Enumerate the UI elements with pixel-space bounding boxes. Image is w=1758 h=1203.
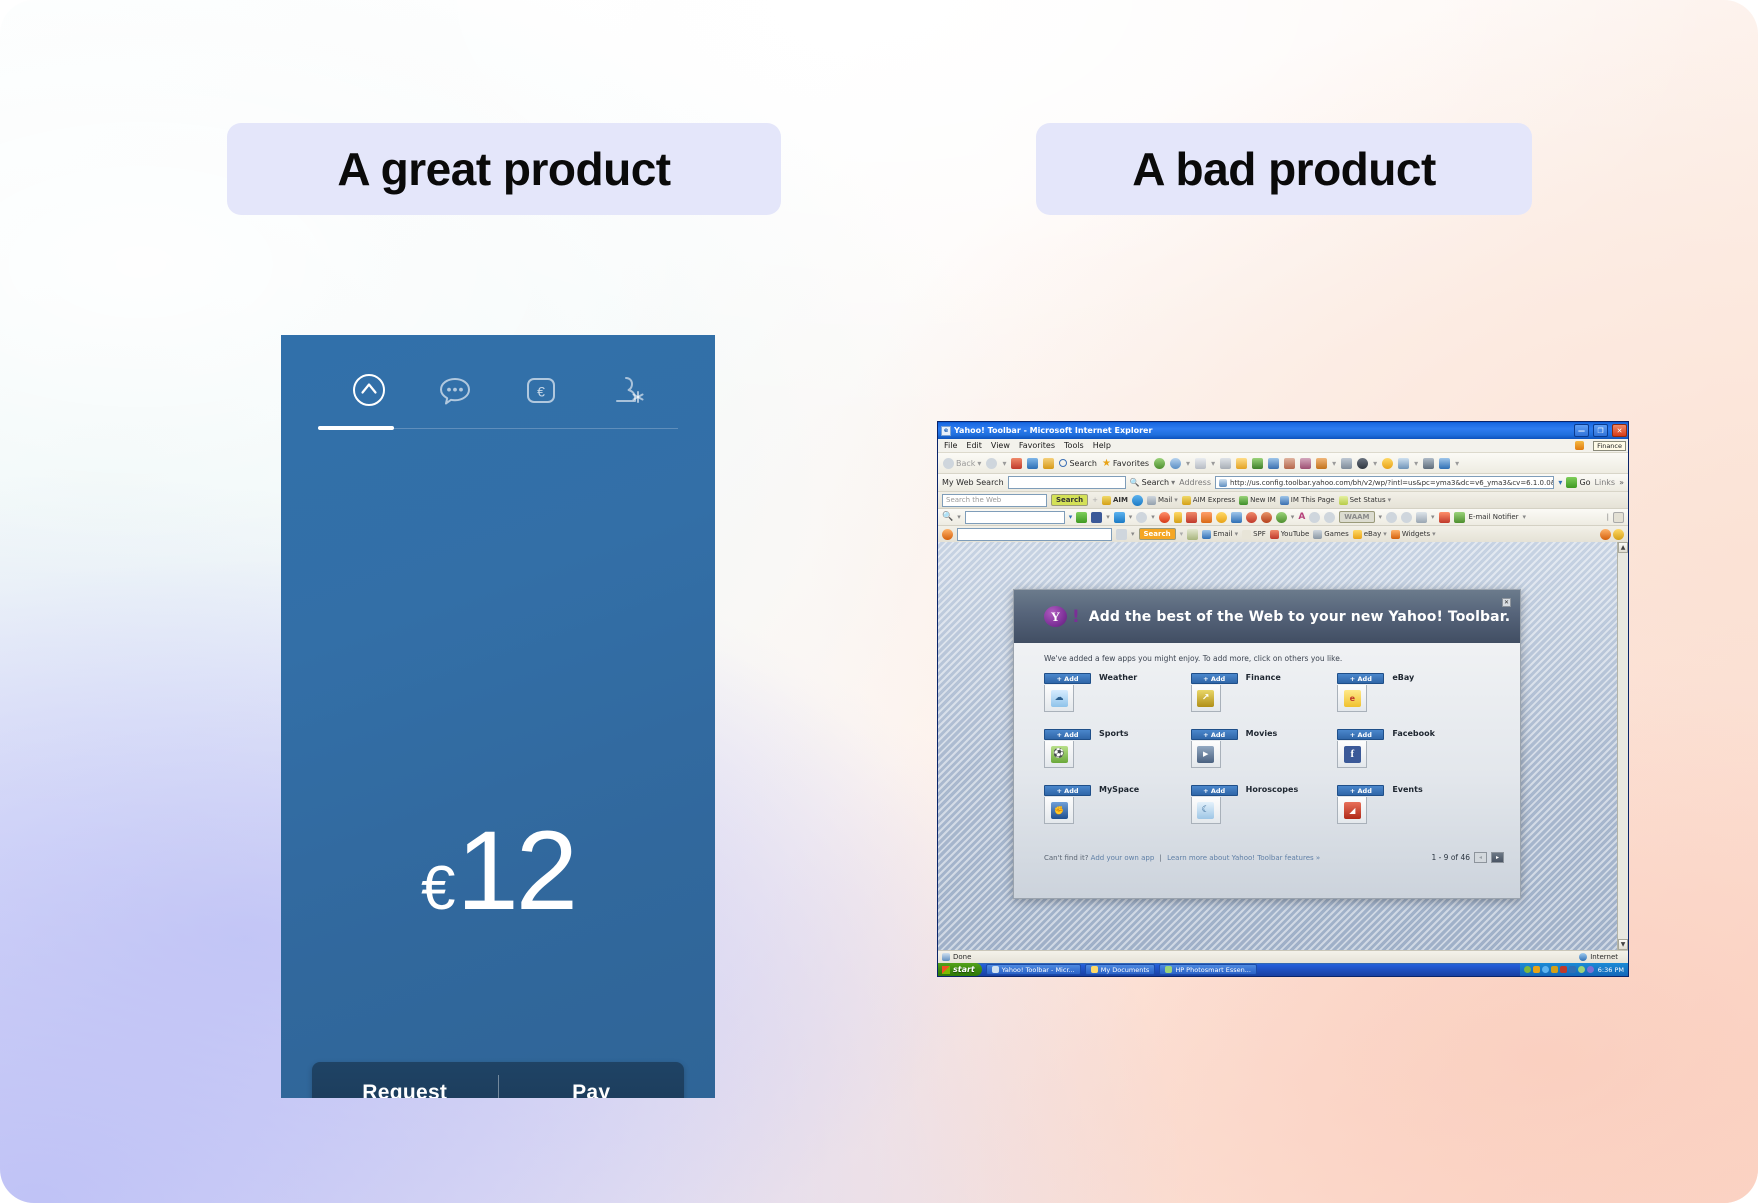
add-your-own-app-link[interactable]: Add your own app <box>1091 854 1155 862</box>
tray-icon-6[interactable] <box>1569 966 1576 973</box>
app-card-myspace[interactable]: + Add ✊ MySpace <box>1044 785 1191 824</box>
window-titlebar: e Yahoo! Toolbar - Microsoft Internet Ex… <box>938 422 1628 439</box>
windows-flag-icon <box>942 966 950 974</box>
add-button[interactable]: + Add <box>1044 785 1091 796</box>
window-icon[interactable] <box>1398 458 1409 469</box>
aim-plus-icon[interactable] <box>1132 495 1143 506</box>
ie-icon <box>992 966 999 973</box>
magnifier-icon: 🔍 <box>1130 478 1140 487</box>
tray-icon-3[interactable] <box>1542 966 1549 973</box>
row3-user-icon[interactable] <box>1187 529 1198 540</box>
minimize-button[interactable]: — <box>1574 424 1589 437</box>
links-label[interactable]: Links <box>1595 478 1616 487</box>
app-icon-frame: ☁ <box>1044 685 1074 712</box>
row3-search-button[interactable]: Search <box>1139 528 1176 540</box>
page-scrollbar[interactable]: ▲ ▼ <box>1617 542 1628 950</box>
email-notifier-label[interactable]: E-mail Notifier <box>1469 513 1519 521</box>
app-card-weather[interactable]: + Add ☁ Weather <box>1044 673 1191 712</box>
go-arrow-icon <box>1566 477 1577 488</box>
window-icon[interactable] <box>1201 512 1212 523</box>
status-text: Done <box>953 953 971 961</box>
aim-mail-item[interactable]: Mail ▾ <box>1147 496 1178 505</box>
extra-toolbar-row-3: ▾ Search ▾ Email ▾ SPF YouTube Games <box>938 526 1628 543</box>
euro-square-icon: € <box>523 372 559 408</box>
app-card-horoscopes[interactable]: + Add ☾ Horoscopes <box>1191 785 1338 824</box>
edit-icon[interactable] <box>1268 458 1279 469</box>
widgets-icon <box>1391 530 1400 539</box>
smiley-grey-icon[interactable] <box>1136 512 1147 523</box>
extra-toolbar-row-2: 🔍 ▾ ▾ ▾ ▾ ▾ ▾ A WAAM ▾ <box>938 509 1628 526</box>
tray-icon-2[interactable] <box>1533 966 1540 973</box>
print-icon[interactable] <box>1220 458 1231 469</box>
aim-express-icon <box>1182 496 1191 505</box>
cant-find-label: Can't find it? <box>1044 854 1088 862</box>
label-bad-product: A bad product <box>1036 123 1532 215</box>
skull-icon[interactable] <box>1357 458 1368 469</box>
discuss-icon[interactable] <box>1284 458 1295 469</box>
aim-running-man-icon <box>1102 496 1111 505</box>
media-next-icon[interactable] <box>1386 512 1397 523</box>
favorites-toolbar-button[interactable]: ★ Favorites <box>1102 458 1149 469</box>
aim-new-im-item[interactable]: New IM <box>1239 496 1276 505</box>
app-icon-frame: ↗ <box>1191 685 1221 712</box>
clock[interactable]: 6:36 PM <box>1598 966 1624 974</box>
ebay-icon <box>1353 530 1362 539</box>
research-icon[interactable] <box>1300 458 1311 469</box>
smiley-icon[interactable] <box>1382 458 1393 469</box>
cursor-icon[interactable] <box>1416 512 1427 523</box>
search-icon <box>1059 459 1067 467</box>
play-icon[interactable] <box>1423 458 1434 469</box>
window-title: Yahoo! Toolbar - Microsoft Internet Expl… <box>954 426 1571 435</box>
app-icon-frame: f <box>1337 741 1367 768</box>
letter-a-icon[interactable]: A <box>1298 512 1305 522</box>
app-icon-frame: ◢ <box>1337 797 1367 824</box>
page-canvas: A great product A bad product <box>0 0 1758 1203</box>
app-icon-frame: ⚽ <box>1044 741 1074 768</box>
status-icon <box>1339 496 1348 505</box>
apple-icon[interactable] <box>1246 512 1257 523</box>
amount-currency-symbol: € <box>421 858 454 920</box>
system-tray: 6:36 PM <box>1520 963 1628 976</box>
add-button[interactable]: + Add <box>1337 673 1384 684</box>
row3-search-input[interactable] <box>957 528 1112 541</box>
page-icon <box>1219 479 1227 487</box>
app-icon-frame: ☾ <box>1191 797 1221 824</box>
im-this-page-icon <box>1280 496 1289 505</box>
record-icon[interactable] <box>1159 512 1170 523</box>
fruit-icon[interactable] <box>1216 512 1227 523</box>
internet-explorer-window: e Yahoo! Toolbar - Microsoft Internet Ex… <box>937 421 1629 977</box>
tray-icon-4[interactable] <box>1551 966 1558 973</box>
sidebar-item-contacts[interactable] <box>606 369 648 411</box>
add-icon[interactable] <box>1076 512 1087 523</box>
menu-help[interactable]: Help <box>1093 441 1111 450</box>
app-icon-frame: ▶ <box>1191 741 1221 768</box>
app-tab-bar: € <box>281 335 715 425</box>
set-status-item[interactable]: Set Status ▾ <box>1339 496 1392 505</box>
row3-spf-item[interactable]: SPF <box>1242 530 1266 539</box>
row3-games-item[interactable]: Games <box>1313 530 1349 539</box>
menu-tools[interactable]: Tools <box>1064 441 1084 450</box>
tray-icon-5[interactable] <box>1560 966 1567 973</box>
im-this-page-item[interactable]: IM This Page <box>1280 496 1335 505</box>
sidebar-item-wallet[interactable]: € <box>520 369 562 411</box>
leaf-icon[interactable] <box>1276 512 1287 523</box>
my-web-search-button[interactable]: 🔍 Search ▾ <box>1130 478 1175 487</box>
add-button[interactable]: + Add <box>1191 673 1238 684</box>
add-button[interactable]: + Add <box>1044 673 1091 684</box>
tray-icon-1[interactable] <box>1524 966 1531 973</box>
dialog-subtitle: We've added a few apps you might enjoy. … <box>1014 643 1520 663</box>
ebay-icon: e <box>1344 690 1361 707</box>
my-web-search-label: My Web Search <box>942 478 1004 487</box>
games-icon <box>1313 530 1322 539</box>
refresh-icon[interactable] <box>1027 458 1038 469</box>
request-button[interactable]: Request <box>312 1081 498 1098</box>
page-content-area: ▲ ▼ Y ! Add the best of the Web to your … <box>938 542 1628 950</box>
row3-email-item[interactable]: Email ▾ <box>1202 530 1238 539</box>
translate-icon[interactable] <box>1316 458 1327 469</box>
chat-bubble-icon <box>437 372 473 408</box>
aim-search-input[interactable]: Search the Web <box>942 494 1047 507</box>
app-card-facebook[interactable]: + Add f Facebook <box>1337 729 1484 768</box>
back-arrow-icon <box>943 458 954 469</box>
add-button[interactable]: + Add <box>1337 729 1384 740</box>
add-button[interactable]: + Add <box>1044 729 1091 740</box>
history-icon[interactable] <box>1170 458 1181 469</box>
toolbar-overflow-icon[interactable] <box>1617 458 1628 469</box>
security-zone-label: Internet <box>1590 953 1618 961</box>
address-bar-row: My Web Search 🔍 Search ▾ Address http://… <box>938 474 1628 492</box>
finance-tooltip: Finance <box>1593 441 1626 451</box>
status-bar: Done Internet <box>938 950 1628 963</box>
forward-arrow-icon[interactable] <box>986 458 997 469</box>
aim-express-item[interactable]: AIM Express <box>1182 496 1235 505</box>
row2-search-input[interactable] <box>965 511 1065 524</box>
ie-logo-icon: e <box>941 426 951 436</box>
dialog-close-button[interactable]: ✕ <box>1502 598 1511 607</box>
toolbar-warning-icon <box>1575 441 1584 450</box>
aim-toolbar-row: Search the Web Search + AIM Mail ▾ AIM E… <box>938 492 1628 509</box>
tray-icon-8[interactable] <box>1587 966 1594 973</box>
folder-icon[interactable] <box>1236 458 1247 469</box>
menu-file[interactable]: File <box>944 441 957 450</box>
my-web-search-input[interactable] <box>1008 476 1126 489</box>
row3-youtube-item[interactable]: YouTube <box>1270 530 1309 539</box>
row3-settings-icon[interactable] <box>1613 529 1624 540</box>
start-button[interactable]: start <box>938 963 982 976</box>
add-button[interactable]: + Add <box>1337 785 1384 796</box>
app-icon-frame: e <box>1337 685 1367 712</box>
cherry-icon[interactable] <box>1261 512 1272 523</box>
movies-icon: ▶ <box>1197 746 1214 763</box>
key-icon[interactable] <box>1174 512 1182 523</box>
youtube-icon <box>1270 530 1279 539</box>
address-label: Address <box>1179 478 1211 487</box>
paint-icon[interactable] <box>1341 458 1352 469</box>
search-toolbar-button[interactable]: Search <box>1059 459 1096 468</box>
home-icon[interactable] <box>1043 458 1054 469</box>
aim-search-button[interactable]: Search <box>1051 494 1088 506</box>
folder-icon <box>1091 966 1098 973</box>
star-icon: ★ <box>1102 458 1111 469</box>
sidebar-item-home[interactable] <box>348 369 390 411</box>
dialog-header: Y ! Add the best of the Web to your new … <box>1014 590 1520 643</box>
add-button[interactable]: + Add <box>1191 729 1238 740</box>
app-card-finance[interactable]: + Add ↗ Finance <box>1191 673 1338 712</box>
media-icon[interactable] <box>1154 458 1165 469</box>
menu-view[interactable]: View <box>991 441 1010 450</box>
stop-icon[interactable] <box>1011 458 1022 469</box>
scroll-down-arrow-icon[interactable]: ▼ <box>1618 939 1628 950</box>
app-card-events[interactable]: + Add ◢ Events <box>1337 785 1484 824</box>
svg-text:€: € <box>537 384 545 400</box>
horoscopes-icon: ☾ <box>1197 802 1214 819</box>
spf-icon <box>1242 530 1251 539</box>
weather-icon: ☁ <box>1051 690 1068 707</box>
yahoo-logo-icon: Y <box>1044 606 1067 627</box>
pay-button[interactable]: Pay <box>499 1081 685 1098</box>
finance-icon: ↗ <box>1197 690 1214 707</box>
amount-value: 12 <box>456 815 575 927</box>
new-im-icon <box>1239 496 1248 505</box>
address-input[interactable]: http://us.config.toolbar.yahoo.com/bh/v2… <box>1215 476 1554 489</box>
media-stop-icon[interactable] <box>1401 512 1412 523</box>
next-page-button[interactable]: ▸ <box>1491 852 1504 863</box>
menu-bar: File Edit View Favorites Tools Help Fina… <box>938 439 1628 453</box>
windows-taskbar: start Yahoo! Toolbar - Micr... My Docume… <box>938 963 1628 976</box>
menu-edit[interactable]: Edit <box>966 441 982 450</box>
circle-caret-up-icon <box>351 372 387 408</box>
app-icon-frame: ✊ <box>1044 797 1074 824</box>
dialog-title: Add the best of the Web to your new Yaho… <box>1089 609 1510 625</box>
taskbar-button-ie[interactable]: Yahoo! Toolbar - Micr... <box>986 964 1081 975</box>
pagination-range: 1 - 9 of 46 <box>1431 853 1470 862</box>
address-dropdown-icon[interactable]: ▾ <box>1558 478 1562 487</box>
media-prev-icon[interactable] <box>1309 512 1320 523</box>
close-button[interactable]: ✕ <box>1612 424 1627 437</box>
flame-icon[interactable] <box>942 529 953 540</box>
email-icon <box>1202 530 1211 539</box>
chart-icon[interactable] <box>1186 512 1197 523</box>
row3-ebay-item[interactable]: eBay ▾ <box>1353 530 1387 539</box>
link-icon[interactable] <box>1231 512 1242 523</box>
status-page-icon <box>942 953 950 961</box>
standard-toolbar: Back ▾ ▾ Search ★ Favorites ▾ ▾ <box>938 453 1628 474</box>
mail-icon <box>1147 496 1156 505</box>
taskbar-button-my-documents[interactable]: My Documents <box>1085 964 1156 975</box>
taskbar-button-hp-photosmart[interactable]: HP Photosmart Essen... <box>1159 964 1257 975</box>
menu-favorites[interactable]: Favorites <box>1019 441 1055 450</box>
hp-icon <box>1165 966 1172 973</box>
yahoo-bang-icon: ! <box>1072 607 1080 627</box>
row2-overflow-icon[interactable] <box>1613 512 1624 523</box>
envelope-icon <box>1454 512 1465 523</box>
amount-display: € 12 <box>281 815 715 927</box>
action-segmented-control: Request Pay <box>312 1062 684 1098</box>
footer-divider: | <box>1160 854 1162 862</box>
app-grid: + Add ☁ Weather + Add <box>1044 673 1484 824</box>
links-chevron-icon[interactable]: » <box>1619 478 1624 487</box>
row3-magnifier-icon[interactable] <box>1116 529 1127 540</box>
mail-icon[interactable] <box>1195 458 1206 469</box>
aim-settings-icon[interactable] <box>1613 495 1624 506</box>
app-card-sports[interactable]: + Add ⚽ Sports <box>1044 729 1191 768</box>
myspace-icon: ✊ <box>1051 802 1068 819</box>
facebook-icon: f <box>1344 746 1361 763</box>
app-card-ebay[interactable]: + Add e eBay <box>1337 673 1484 712</box>
active-tab-indicator <box>318 426 394 430</box>
messenger-icon[interactable] <box>1252 458 1263 469</box>
row3-widgets-item[interactable]: Widgets ▾ <box>1391 530 1436 539</box>
media-play-icon[interactable] <box>1324 512 1335 523</box>
download-icon[interactable] <box>1439 458 1450 469</box>
yahoo-toolbar-dialog: Y ! Add the best of the Web to your new … <box>1013 589 1521 899</box>
app-card-movies[interactable]: + Add ▶ Movies <box>1191 729 1338 768</box>
pagination: 1 - 9 of 46 ◂ ▸ <box>1431 852 1504 863</box>
go-button[interactable]: Go <box>1566 477 1590 488</box>
magnifier-icon[interactable]: 🔍 <box>942 512 953 522</box>
shield-icon[interactable] <box>1439 512 1450 523</box>
sidebar-item-chat[interactable] <box>434 369 476 411</box>
facebook-icon[interactable] <box>1091 512 1102 523</box>
bird-icon[interactable] <box>1114 512 1125 523</box>
radio-display[interactable]: WAAM <box>1339 511 1374 523</box>
prev-page-button[interactable]: ◂ <box>1474 852 1487 863</box>
add-button[interactable]: + Add <box>1191 785 1238 796</box>
events-icon: ◢ <box>1344 802 1361 819</box>
internet-zone-icon <box>1579 953 1587 961</box>
aim-brand[interactable]: AIM <box>1102 496 1128 505</box>
label-great-product: A great product <box>227 123 781 215</box>
tray-icon-7[interactable] <box>1578 966 1585 973</box>
back-button[interactable]: Back ▾ <box>943 458 981 469</box>
sports-icon: ⚽ <box>1051 746 1068 763</box>
payment-app-screenshot: € € 12 Request P <box>281 335 715 1098</box>
row3-help-icon[interactable] <box>1600 529 1611 540</box>
restore-button[interactable]: ❐ <box>1593 424 1608 437</box>
dialog-footer: Can't find it? Add your own app | Learn … <box>1044 852 1504 863</box>
person-add-icon <box>609 372 645 408</box>
scroll-up-arrow-icon[interactable]: ▲ <box>1618 542 1628 553</box>
learn-more-link[interactable]: Learn more about Yahoo! Toolbar features… <box>1167 854 1320 862</box>
